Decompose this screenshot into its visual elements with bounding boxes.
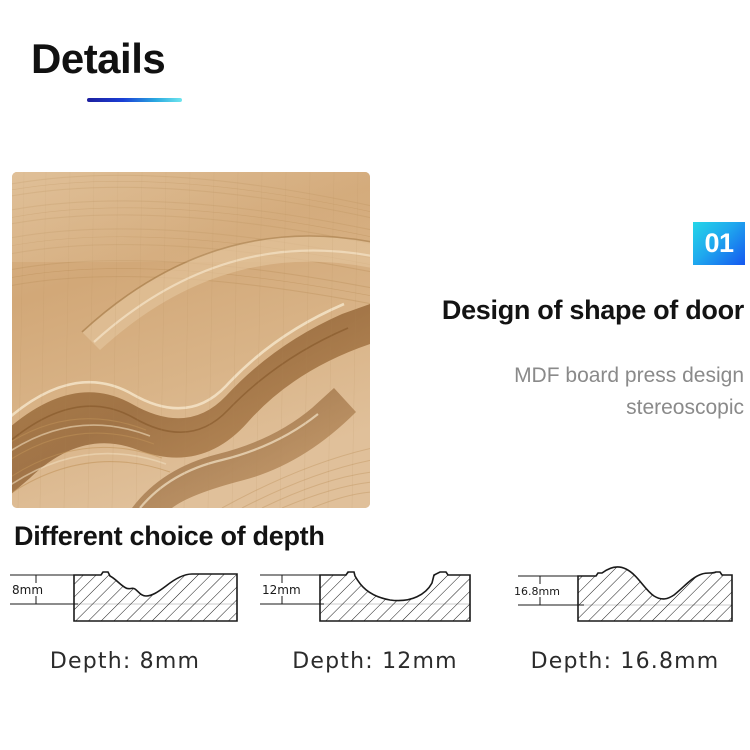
- depth-section-heading: Different choice of depth: [14, 521, 325, 552]
- depth-caption-8mm: Depth: 8mm: [50, 649, 200, 674]
- dimension-label-16-8mm: 16.8mm: [514, 585, 560, 598]
- cross-section-diagram-8mm: 8mm: [6, 563, 244, 641]
- cross-section-diagram-12mm: 12mm: [256, 563, 494, 641]
- wood-door-panel-photo: [12, 172, 370, 508]
- feature-heading: Design of shape of door: [324, 294, 744, 326]
- depth-caption-16-8mm: Depth: 16.8mm: [531, 649, 720, 674]
- depth-option-8mm: 8mm Depth: 8mm: [0, 563, 250, 683]
- cross-section-diagram-16-8mm: 16.8mm: [506, 563, 744, 641]
- dimension-label-8mm: 8mm: [12, 583, 43, 597]
- wood-texture-illustration: [12, 172, 370, 508]
- depth-option-12mm: 12mm Depth: 12mm: [250, 563, 500, 683]
- feature-subtitle-line-1: MDF board press design: [324, 360, 744, 392]
- title-underline-gradient: [87, 98, 182, 102]
- feature-number-badge: 01: [693, 222, 745, 265]
- depth-option-16-8mm: 16.8mm Depth: 16.8mm: [500, 563, 750, 683]
- feature-subtitle-line-2: stereoscopic: [324, 392, 744, 424]
- depth-caption-12mm: Depth: 12mm: [292, 649, 457, 674]
- dimension-label-12mm: 12mm: [262, 583, 301, 597]
- page-title: Details: [31, 36, 165, 82]
- feature-subtitle: MDF board press design stereoscopic: [324, 360, 744, 423]
- details-page: Details: [0, 0, 750, 750]
- depth-options-row: 8mm Depth: 8mm: [0, 563, 750, 683]
